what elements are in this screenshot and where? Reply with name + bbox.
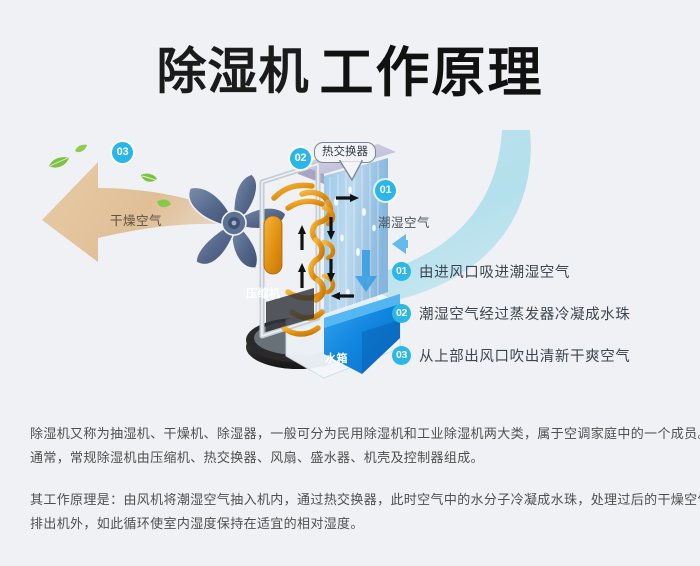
page-title: 除湿机工作原理: [0, 28, 700, 107]
diagram-badge-01: 01: [375, 180, 396, 201]
title-part-2: 工作原理: [320, 43, 544, 103]
compressor-label: 压缩机: [246, 285, 281, 301]
infographic-page: 除湿机工作原理: [0, 0, 700, 566]
paragraph-2: 其工作原理是：由风机将潮湿空气抽入机内，通过热交换器，此时空气中的水分子冷凝成水…: [30, 488, 678, 536]
legend-text-02: 潮湿空气经过蒸发器冷凝成水珠: [419, 303, 630, 324]
water-tank-label: 水箱: [325, 350, 348, 366]
leaf-icon: [74, 144, 88, 154]
dehumidifier-unit-icon: [228, 142, 408, 392]
leaf-icon: [48, 156, 70, 170]
diagram-badge-02: 02: [290, 148, 311, 169]
paragraph-1-line-1: 除湿机又称为抽湿机、干燥机、除湿器，一般可分为民用除湿机和工业除湿机两大类，属于…: [30, 422, 678, 446]
legend-item-01: 01 由进风口吸进潮湿空气: [392, 250, 682, 292]
paragraph-1-line-2: 通常，常规除湿机由压缩机、热交换器、风扇、盛水器、机壳及控制器组成。: [30, 446, 678, 470]
description-text: 除湿机又称为抽湿机、干燥机、除湿器，一般可分为民用除湿机和工业除湿机两大类，属于…: [30, 422, 678, 554]
legend-text-03: 从上部出风口吹出清新干爽空气: [419, 345, 630, 366]
leaf-icon: [140, 172, 158, 185]
paragraph-2-line-2: 排出机外，如此循环使室内湿度保持在适宜的相对湿度。: [30, 512, 678, 536]
leaf-icon: [156, 198, 172, 210]
dry-air-label: 干燥空气: [110, 210, 162, 229]
callout-pointer-icon: [338, 160, 364, 182]
legend-text-01: 由进风口吸进潮湿空气: [419, 261, 570, 282]
paragraph-2-line-1: 其工作原理是：由风机将潮湿空气抽入机内，通过热交换器，此时空气中的水分子冷凝成水…: [30, 488, 678, 512]
legend-list: 01 由进风口吸进潮湿空气 02 潮湿空气经过蒸发器冷凝成水珠 03 从上部出风…: [392, 250, 682, 376]
title-part-1: 除湿机: [157, 44, 310, 100]
paragraph-1: 除湿机又称为抽湿机、干燥机、除湿器，一般可分为民用除湿机和工业除湿机两大类，属于…: [30, 422, 678, 470]
legend-badge-01: 01: [392, 262, 411, 281]
diagram-badge-03: 03: [112, 142, 133, 163]
humid-air-label: 潮湿空气: [378, 212, 430, 231]
legend-item-02: 02 潮湿空气经过蒸发器冷凝成水珠: [392, 292, 682, 334]
legend-item-03: 03 从上部出风口吹出清新干爽空气: [392, 334, 682, 376]
legend-badge-03: 03: [392, 346, 411, 365]
legend-badge-02: 02: [392, 304, 411, 323]
